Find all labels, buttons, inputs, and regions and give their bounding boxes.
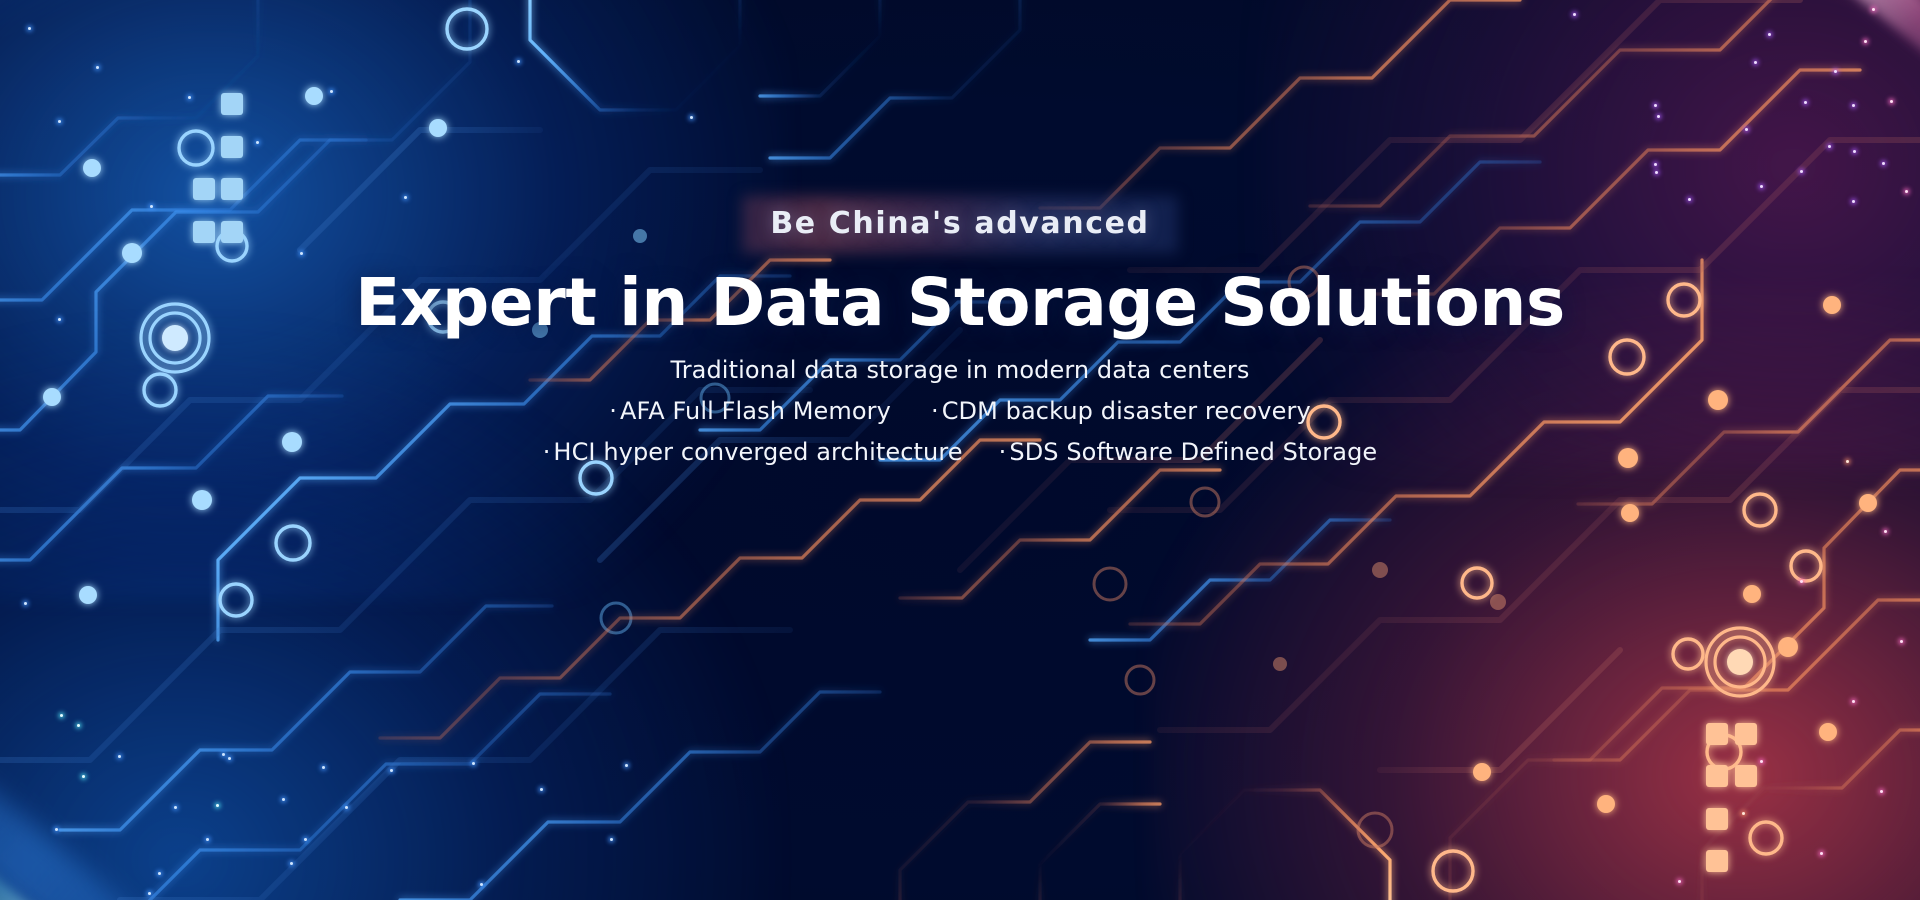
hero-content: Be China's advanced Expert in Data Stora… [0,0,1920,900]
feature-item-cdm: ·CDM backup disaster recovery [931,399,1311,423]
hero-banner: Be China's advanced Expert in Data Stora… [0,0,1920,900]
page-title: Expert in Data Storage Solutions [355,267,1565,338]
bullet-icon: · [931,397,939,425]
feature-row-2: ·HCI hyper converged architecture ·SDS S… [543,440,1378,464]
feature-item-afa: ·AFA Full Flash Memory [609,399,891,423]
eyebrow-container: Be China's advanced [742,196,1177,253]
bullet-icon: · [543,438,551,466]
feature-label: HCI hyper converged architecture [553,438,962,466]
subtitle-text: Traditional data storage in modern data … [670,358,1249,382]
feature-row-1: ·AFA Full Flash Memory ·CDM backup disas… [609,399,1311,423]
eyebrow-text: Be China's advanced [770,206,1149,241]
feature-item-hci: ·HCI hyper converged architecture [543,440,963,464]
feature-label: SDS Software Defined Storage [1009,438,1377,466]
bullet-icon: · [609,397,617,425]
bullet-icon: · [999,438,1007,466]
feature-label: AFA Full Flash Memory [620,397,891,425]
feature-item-sds: ·SDS Software Defined Storage [999,440,1378,464]
feature-label: CDM backup disaster recovery [942,397,1311,425]
